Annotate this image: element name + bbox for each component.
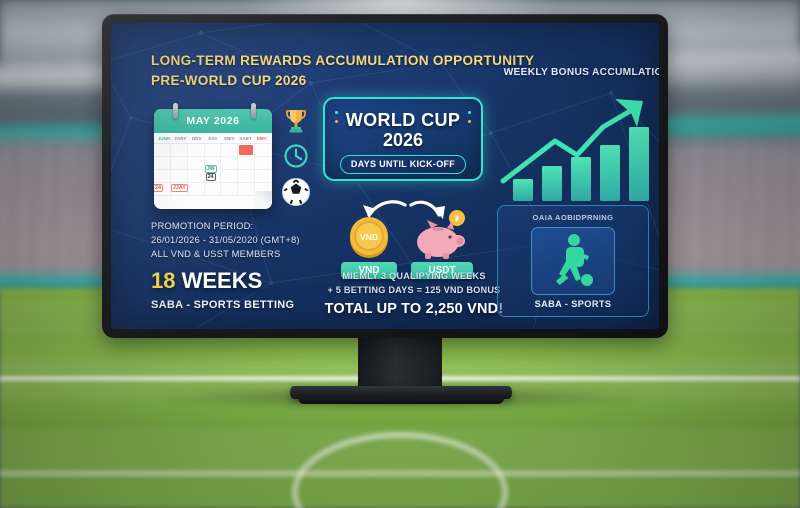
calendar-cell[interactable] [238,170,255,183]
days-until-kickoff-pill[interactable]: DAYS UNTIL KICK-OFF [340,155,466,174]
calendar-page-fold [254,191,272,209]
badge-dot-gold-icon [468,120,471,123]
calendar-cell[interactable] [221,157,238,170]
icon-column [279,107,313,215]
calendar-cell-highlight[interactable] [238,144,255,157]
calendar-marker: JJAY [171,184,188,192]
bonus-total: TOTAL UP TO 2,250 VND! [314,301,514,317]
calendar-cell[interactable] [188,144,205,157]
calendar-dow: DNV [189,136,205,141]
saba-sports-panel[interactable]: OAIA AOBIDPRNING SABA - SPORTS [497,205,649,317]
calendar-cell[interactable] [154,144,171,157]
screenshot-stage: LONG-TERM REWARDS ACCUMULATION OPPORTUNI… [0,0,800,508]
promotion-period-dates: 26/01/2026 - 31/05/2020 (GMT+8) [151,233,361,247]
calendar-highlight-fill [239,145,253,155]
calendar-cell[interactable] [188,183,205,196]
calendar-dow: SNIV [221,136,237,141]
calendar-cell[interactable] [154,157,171,170]
calendar-dow: EMY [254,136,270,141]
weekly-bonus-chart [497,89,659,201]
trophy-icon [279,107,313,135]
bar-chart-svg [497,89,659,201]
calendar-ring-right [251,103,256,119]
soccer-ball-icon [279,177,313,207]
calendar-cell[interactable] [255,157,272,170]
clock-icon [279,143,313,169]
monitor-bezel: LONG-TERM REWARDS ACCUMULATION OPPORTUNI… [102,14,668,338]
saba-panel-footer: SABA - SPORTS [498,299,648,309]
calendar-cell[interactable] [171,157,188,170]
calendar-cell[interactable] [255,144,272,157]
badge-dot-teal-icon [335,111,338,114]
calendar-dow: 2ARY [172,136,188,141]
calendar-cell-marked[interactable]: JW 24 [205,170,222,183]
calendar-cell[interactable] [221,183,238,196]
calendar-dow: SABT [237,136,253,141]
calendar-cell[interactable] [238,183,255,196]
calendar-cell[interactable] [171,170,188,183]
calendar-cell[interactable] [188,157,205,170]
calendar-cell[interactable] [205,144,222,157]
saba-panel-header: OAIA AOBIDPRNING [498,213,648,222]
calendar-cell[interactable] [238,157,255,170]
calendar-day-headers: JUNK 2ARY DNV KAY SNIV SABT EMY [154,133,272,143]
calendar-cell[interactable] [221,144,238,157]
bonus-formula: MIEMLY 3 QUALIPYING WEEKS + 5 BETTING DA… [314,269,514,317]
bonus-formula-line-2: + 5 BETTING DAYS = 125 VND BONUS [314,283,514,297]
calendar-cell-marked[interactable]: 24 [154,183,171,196]
calendar-dow: KAY [205,136,221,141]
calendar-cell[interactable] [205,183,222,196]
badge-dot-gold-icon [335,120,338,123]
calendar-dow: JUNK [156,136,172,141]
monitor-stand-neck [358,338,442,392]
saba-logo-tile[interactable] [531,227,615,295]
calendar-cell-marked[interactable]: JJAY [171,183,188,196]
screen-headline: LONG-TERM REWARDS ACCUMULATION OPPORTUNI… [151,51,551,90]
promotion-period-label: PROMOTION PERIOD: [151,219,361,233]
calendar-grid[interactable]: JW 24 24 JJAY [154,143,272,196]
soccer-player-icon [547,232,599,290]
calendar-cell[interactable] [255,170,272,183]
calendar-marker: JW [205,165,217,173]
eligibility-label: ALL VND & USST MEMBERS [151,247,361,261]
calendar-cell[interactable] [221,170,238,183]
calendar-widget[interactable]: MAY 2026 JUNK 2ARY DNV KAY SNIV SABT EMY [154,109,272,209]
svg-text:VND: VND [360,232,378,242]
world-cup-year: 2026 [325,131,481,150]
headline-line-2: PRE-WORLD CUP 2026 [151,71,551,91]
world-cup-badge[interactable]: WORLD CUP 2026 DAYS UNTIL KICK-OFF [323,97,483,181]
badge-dot-teal-icon [468,111,471,114]
chart-title: WEEKLY BONUS ACCUMLATION [497,67,659,78]
bonus-formula-line-1: MIEMLY 3 QUALIPYING WEEKS [314,269,514,283]
world-cup-title: WORLD CUP [325,110,481,131]
duration-number: 18 [151,268,175,293]
duration-unit: WEEKS [182,268,263,293]
monitor-screen[interactable]: LONG-TERM REWARDS ACCUMULATION OPPORTUNI… [111,23,659,329]
piggy-bank-icon: ₮ [409,209,469,261]
svg-text:₮: ₮ [455,215,460,224]
calendar-cell[interactable] [154,170,171,183]
chart-bars [513,127,649,201]
calendar-cell[interactable] [171,144,188,157]
monitor-stand-base [290,386,512,399]
calendar-marker: 24 [154,184,163,192]
calendar-cell[interactable] [188,170,205,183]
calendar-ring-left [173,103,178,119]
chart-title-text: WEEKLY BONUS ACCUMLATION [504,67,659,78]
calendar-marker: 24 [206,173,216,181]
headline-line-1: LONG-TERM REWARDS ACCUMULATION OPPORTUNI… [151,53,534,68]
